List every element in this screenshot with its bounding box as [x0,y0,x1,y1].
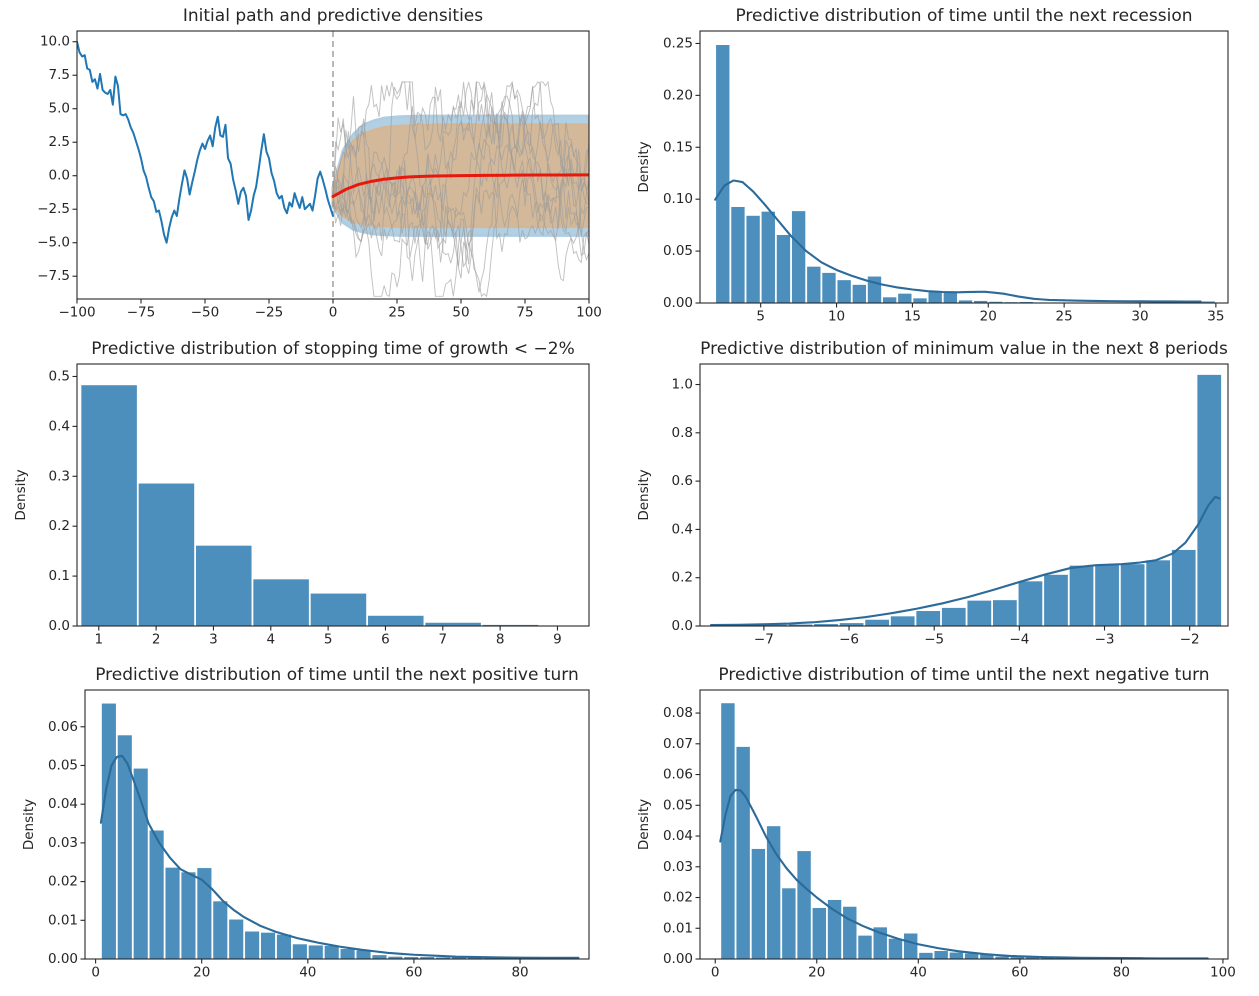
y-tick-label: 0.06 [663,767,693,783]
histogram-bar [792,211,805,303]
y-tick-label: 0.1 [49,568,70,584]
y-tick-label: 0.00 [663,951,693,967]
y-tick-label: 0.05 [663,243,693,259]
histogram-bar [341,949,355,959]
y-tick-label: 0.01 [663,920,693,936]
x-tick-label: 7 [438,632,447,648]
x-tick-label: 40 [910,965,927,981]
y-tick-label: 0.5 [49,368,70,384]
histogram-bar [1019,581,1043,626]
panel-title: Initial path and predictive densities [183,6,483,26]
panel-title: Predictive distribution of minimum value… [700,339,1228,359]
y-tick-label: 0.04 [48,796,78,812]
histogram-bar [181,872,195,959]
histogram-bar [807,267,820,303]
panel-time-until-next-positive-turn: Predictive distribution of time until th… [21,665,589,981]
histogram-bar [767,826,780,959]
histogram-bar [865,620,889,626]
x-tick-label: −7 [754,632,774,648]
histogram-bar [993,600,1017,626]
x-tick-label: −25 [255,305,284,321]
x-tick-label: 15 [904,309,921,325]
y-axis-label: Density [13,469,29,520]
histogram-bar [942,608,966,626]
x-tick-label: 100 [1210,965,1236,981]
histogram-bar [782,888,795,959]
x-tick-label: 9 [553,632,562,648]
y-tick-label: 0.08 [663,705,693,721]
histogram-bar [1146,560,1170,626]
y-tick-label: 0.8 [672,425,693,441]
histogram-bar [934,951,947,959]
y-tick-label: 0.2 [672,570,693,586]
histogram-bar [309,945,323,959]
y-axis-label: Density [636,469,652,520]
histogram-bar [916,611,940,626]
histogram-bar [1197,375,1221,626]
histogram-bar [311,594,367,626]
histogram-bar [967,601,991,626]
x-tick-label: 6 [381,632,390,648]
histogram-bar [1172,550,1196,626]
y-tick-label: 0.2 [49,518,70,534]
x-tick-label: 75 [516,305,533,321]
histogram-bar [883,297,896,303]
x-tick-label: 25 [388,305,405,321]
plot-area [711,375,1221,626]
panel-title: Predictive distribution of time until th… [718,665,1209,685]
y-tick-label: 0.4 [49,418,70,434]
plot-area [720,703,1207,959]
y-tick-label: 0.00 [663,295,693,311]
plot-area [101,704,578,959]
histogram-bar [797,851,810,959]
y-tick-label: 0.03 [663,859,693,875]
histogram-bar [253,579,309,626]
x-tick-label: 20 [980,309,997,325]
x-tick-label: 5 [756,309,765,325]
panel-stopping-time-growth-below-minus-2pct: Predictive distribution of stopping time… [13,339,589,648]
observed-path-line [77,42,333,243]
x-tick-label: −4 [1009,632,1029,648]
y-tick-label: 5.0 [49,101,70,117]
panel-title: Predictive distribution of time until th… [95,665,579,685]
histogram-bar [822,273,835,303]
y-tick-label: 0.02 [663,890,693,906]
histogram-bar [102,704,116,959]
histogram-bar [731,207,744,303]
histogram-bar [898,294,911,303]
histogram-bar [1095,565,1119,626]
y-axis-label: Density [636,799,652,850]
panel-minimum-value-next-8-periods: Predictive distribution of minimum value… [636,339,1228,648]
histogram-bar [229,920,243,959]
y-tick-label: 0.10 [663,191,693,207]
y-tick-label: 0.00 [48,951,78,967]
x-tick-label: 60 [1011,965,1028,981]
y-tick-label: 0.05 [663,797,693,813]
x-tick-label: 0 [711,965,720,981]
y-tick-label: 0.04 [663,828,693,844]
y-tick-label: 0.15 [663,139,693,155]
y-tick-label: 0.02 [48,874,78,890]
y-axis-label: Density [21,799,37,850]
histogram-bar [858,936,871,959]
histogram-bar [828,900,841,959]
x-tick-label: −2 [1180,632,1200,648]
plot-area [81,385,538,626]
x-tick-label: 80 [511,965,528,981]
histogram-bar [372,955,386,959]
histogram-bar [368,616,424,626]
y-tick-label: 0.3 [49,468,70,484]
histogram-bar [889,939,902,959]
y-tick-label: 7.5 [49,67,70,83]
x-tick-label: 0 [329,305,338,321]
x-tick-label: −75 [127,305,156,321]
histogram-bar [746,216,759,303]
predictive-densities-figure: Initial path and predictive densities−10… [0,0,1259,992]
x-tick-label: −6 [839,632,859,648]
x-tick-label: 3 [209,632,218,648]
x-tick-label: 80 [1113,965,1130,981]
x-tick-label: 5 [324,632,333,648]
y-tick-label: 0.0 [49,618,70,634]
histogram-bar [777,235,790,303]
y-axis-label: Density [636,141,652,192]
histogram-bar [150,830,164,959]
y-tick-label: 0.05 [48,757,78,773]
histogram-bar [165,868,179,959]
y-tick-label: 0.4 [672,521,693,537]
x-tick-label: 50 [452,305,469,321]
x-tick-label: 20 [808,965,825,981]
histogram-bar [277,935,291,959]
x-tick-label: 25 [1056,309,1073,325]
histogram-bar [261,933,275,959]
x-tick-label: 100 [576,305,602,321]
x-tick-label: 2 [152,632,161,648]
panel-initial-path-and-predictive-densities: Initial path and predictive densities−10… [37,6,602,321]
panel-time-until-next-negative-turn: Predictive distribution of time until th… [636,665,1236,981]
x-tick-label: 35 [1207,309,1224,325]
histogram-bar [944,292,957,303]
histogram-bar [245,932,259,959]
histogram-bar [843,907,856,959]
histogram-bar [813,908,826,959]
histogram-bar [891,616,915,626]
x-tick-label: 1 [94,632,103,648]
y-tick-label: −5.0 [37,235,70,251]
x-tick-label: −3 [1095,632,1115,648]
histogram-bar [853,285,866,303]
x-tick-label: 60 [405,965,422,981]
histogram-bar [139,484,195,626]
x-tick-label: 10 [828,309,845,325]
y-tick-label: 1.0 [672,377,693,393]
x-tick-label: 40 [299,965,316,981]
y-tick-label: 10.0 [40,34,70,50]
histogram-bar [904,933,917,959]
y-tick-label: −7.5 [37,268,70,284]
histogram-bar [356,950,370,959]
histogram-bar [213,901,227,959]
histogram-bar [1044,575,1068,626]
y-tick-label: 0.07 [663,736,693,752]
y-tick-label: −2.5 [37,201,70,217]
histogram-bar [913,298,926,303]
y-tick-label: 0.25 [663,35,693,51]
histogram-bar [716,45,729,303]
histogram-bar [950,953,963,959]
y-tick-label: 0.03 [48,835,78,851]
y-tick-label: 0.6 [672,473,693,489]
histogram-bar [196,546,252,626]
x-tick-label: 4 [266,632,275,648]
x-tick-label: −5 [924,632,944,648]
histogram-bar [752,849,765,959]
x-tick-label: 0 [91,965,100,981]
y-tick-label: 0.20 [663,87,693,103]
histogram-bar [736,747,749,959]
y-tick-label: 2.5 [49,134,70,150]
histogram-bar [1121,564,1145,626]
y-tick-label: 0.0 [49,168,70,184]
y-tick-label: 0.01 [48,912,78,928]
panel-time-until-next-recession: Predictive distribution of time until th… [636,6,1228,325]
plot-area [715,45,1215,303]
histogram-bar [293,944,307,959]
figure-canvas: Initial path and predictive densities−10… [0,0,1259,992]
histogram-bar [762,212,775,303]
y-tick-label: 0.0 [672,618,693,634]
x-tick-label: −50 [191,305,220,321]
histogram-bar [81,385,137,626]
histogram-bar [837,280,850,303]
x-tick-label: 30 [1131,309,1148,325]
plot-area [77,31,589,299]
panel-title: Predictive distribution of stopping time… [91,339,575,359]
histogram-bar [325,946,339,959]
x-tick-label: 8 [496,632,505,648]
histogram-bar [965,953,978,959]
histogram-bar [919,953,932,959]
x-tick-label: −100 [58,305,95,321]
x-tick-label: 20 [193,965,210,981]
panel-title: Predictive distribution of time until th… [735,6,1192,26]
y-tick-label: 0.06 [48,719,78,735]
histogram-bar [928,292,941,303]
histogram-bar [1070,566,1094,626]
